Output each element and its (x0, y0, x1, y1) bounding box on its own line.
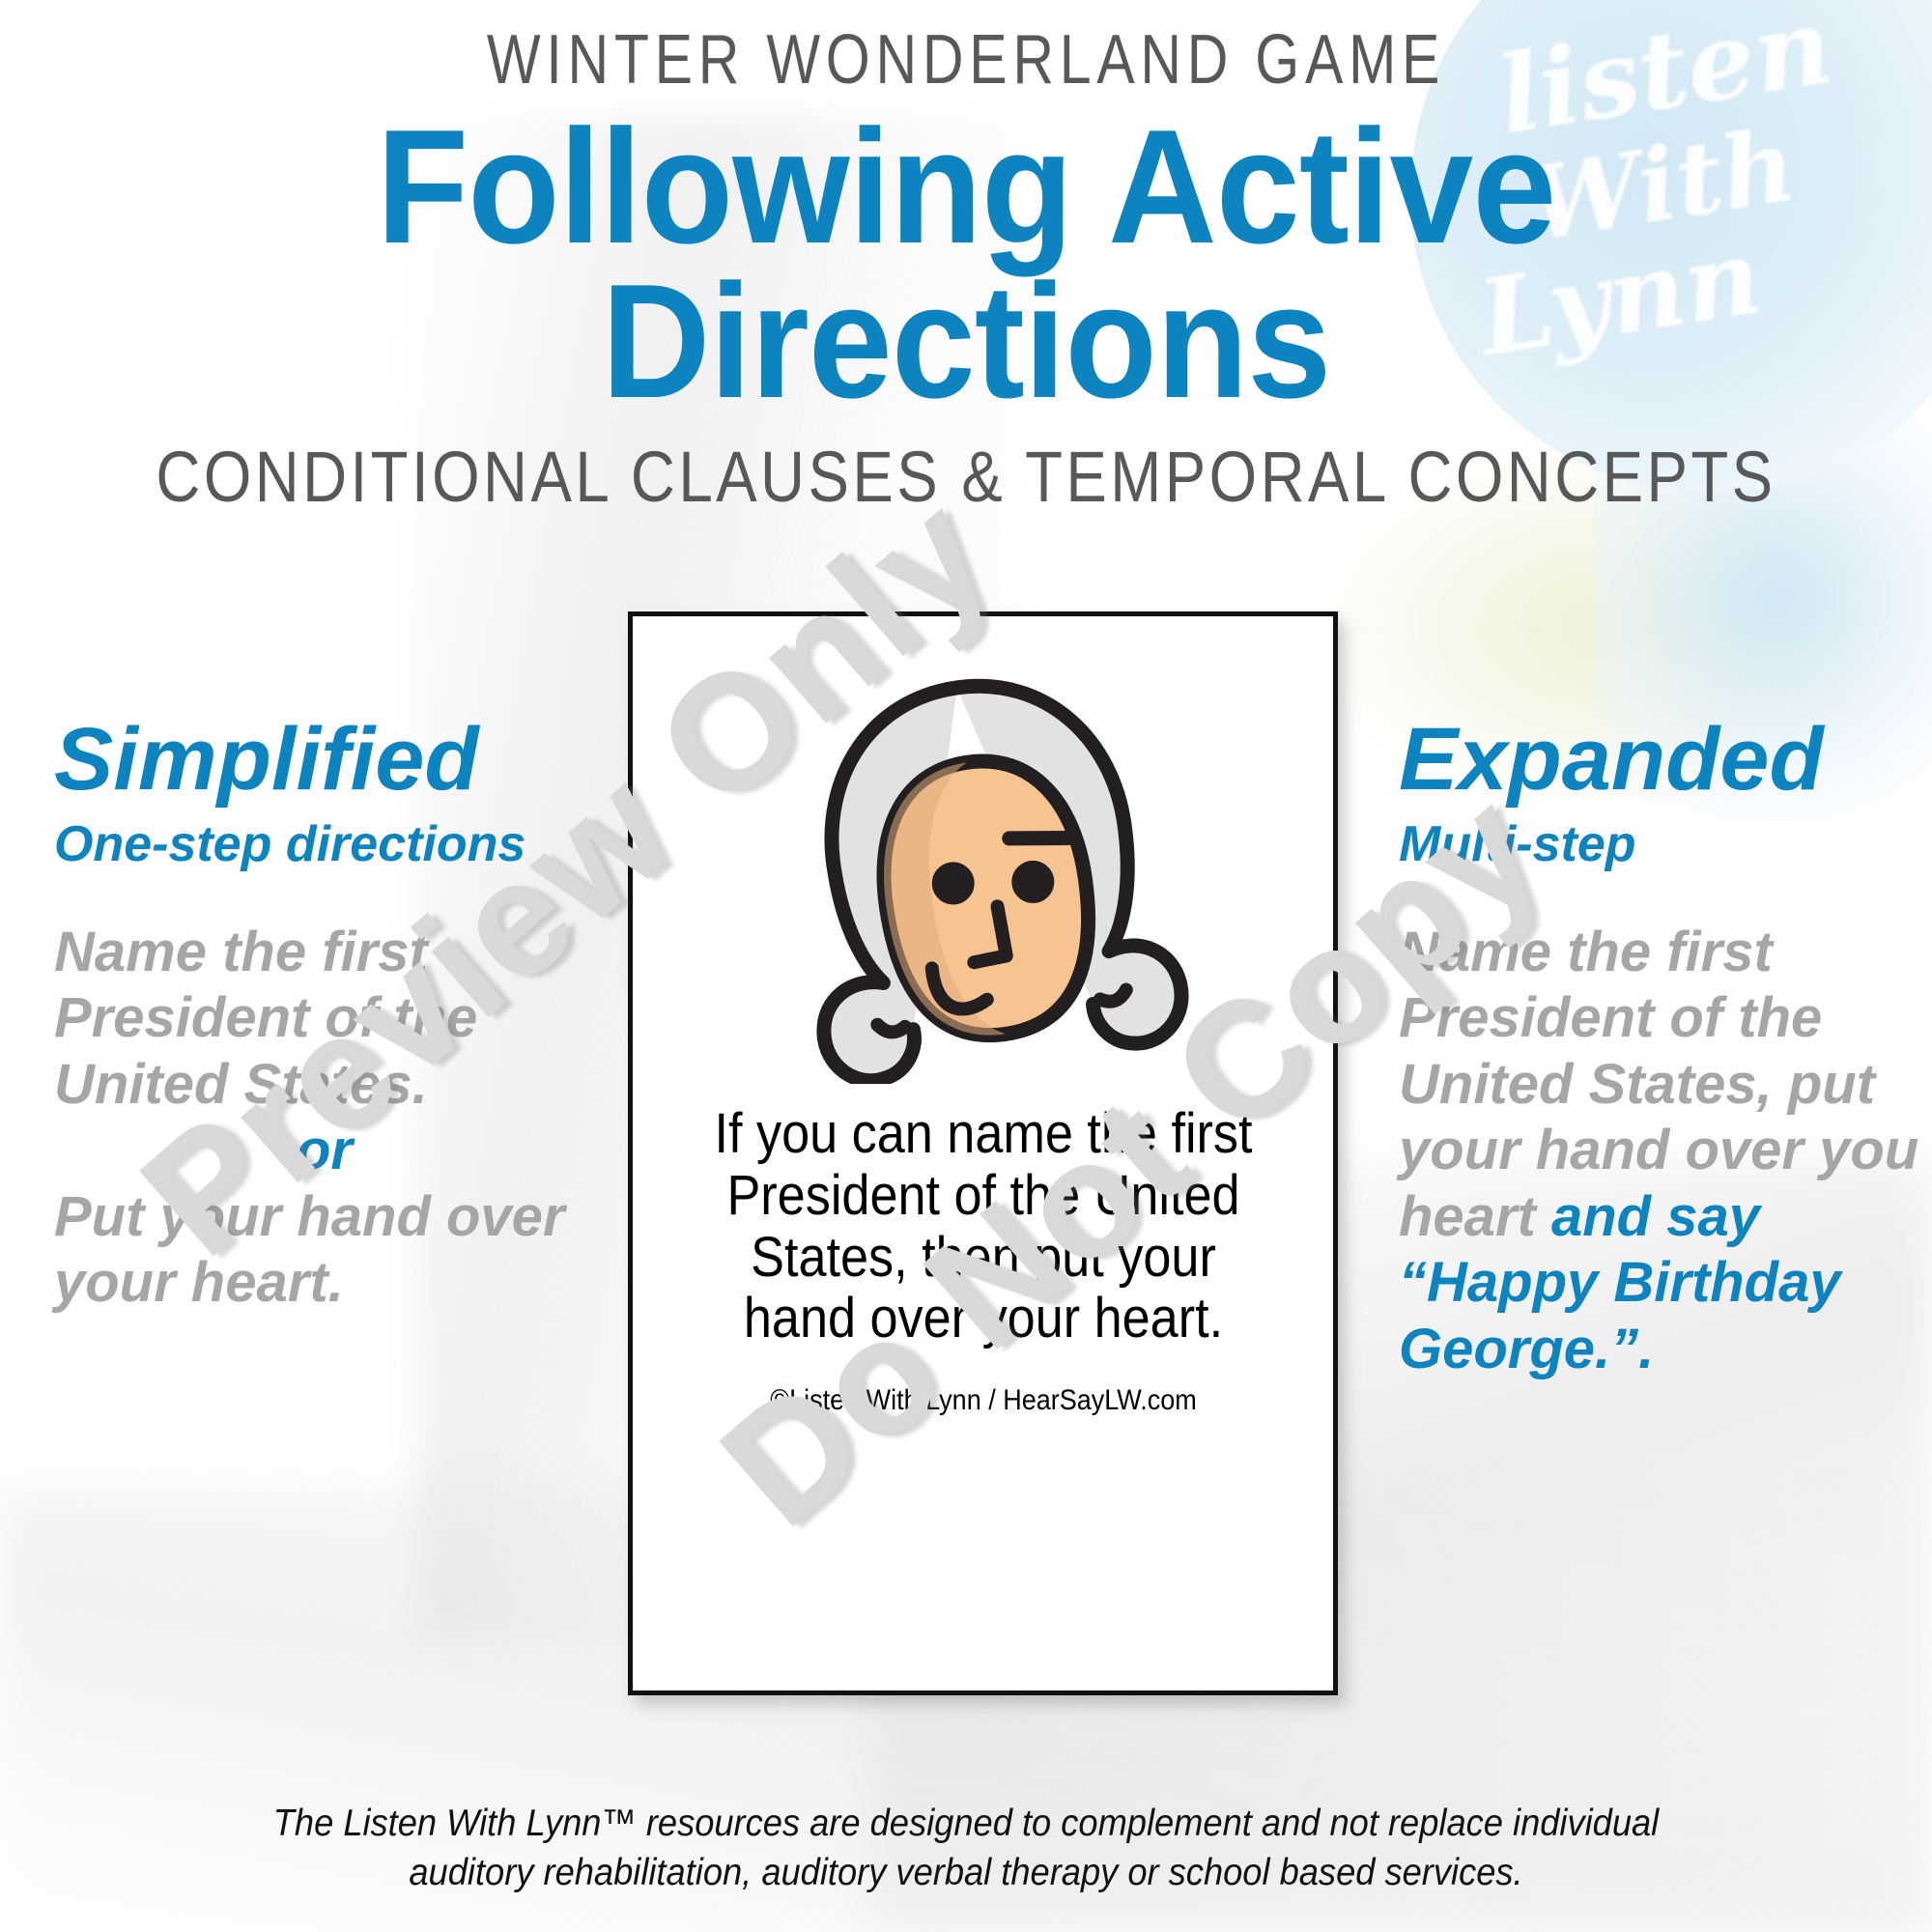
page-header: WINTER WONDERLAND GAME Following Active … (0, 0, 1932, 513)
simplified-direction-a: Name the first President of the United S… (54, 920, 595, 1118)
george-washington-face-icon (713, 668, 1254, 1084)
page-title-line-2: Directions (68, 265, 1864, 419)
expanded-direction: Name the first President of the United S… (1399, 920, 1932, 1382)
simplified-connector: or (54, 1118, 595, 1183)
expanded-title: Expanded (1399, 715, 1932, 804)
page-title-line-1: Following Active (68, 110, 1864, 265)
simplified-column: Simplified One-step directions Name the … (54, 715, 595, 1317)
page-title: Following Active Directions (68, 110, 1864, 418)
simplified-title: Simplified (54, 715, 595, 804)
simplified-subtitle: One-step directions (54, 819, 595, 869)
footer-disclaimer: The Listen With Lynn™ resources are desi… (193, 1799, 1739, 1898)
expanded-column: Expanded Multi-step Name the first Presi… (1399, 715, 1932, 1382)
expanded-subtitle: Multi-step (1399, 819, 1932, 869)
simplified-direction-b: Put your hand over your heart. (54, 1184, 595, 1317)
footer-line-2: auditory rehabilitation, auditory verbal… (193, 1848, 1739, 1897)
header-subtitle: CONDITIONAL CLAUSES & TEMPORAL CONCEPTS (135, 441, 1797, 513)
card-credit: ©Listen With Lynn / HearSayLW.com (696, 1384, 1270, 1417)
game-card[interactable]: If you can name the first President of t… (628, 611, 1338, 1695)
card-prompt-text: If you can name the first President of t… (705, 1103, 1262, 1350)
header-eyebrow: WINTER WONDERLAND GAME (174, 25, 1758, 95)
footer-line-1: The Listen With Lynn™ resources are desi… (193, 1799, 1739, 1848)
